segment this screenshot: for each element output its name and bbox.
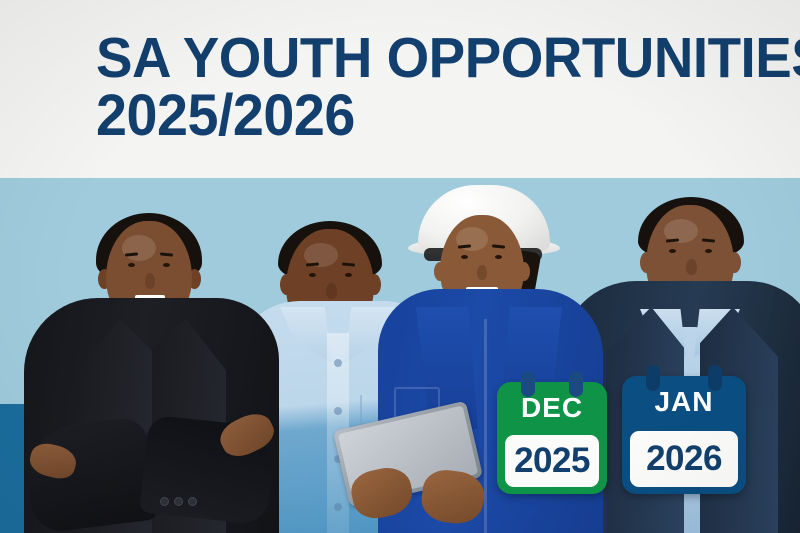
person-2-eye-right — [345, 273, 352, 277]
person-2-shirt-button-4 — [334, 503, 342, 511]
person-1-button-1 — [160, 497, 169, 506]
person-4-eye-right — [705, 249, 712, 253]
person-3-coverall-seam — [484, 319, 487, 533]
calendar-badge-january: JAN 2026 — [622, 376, 746, 494]
person-4-nose — [686, 259, 697, 275]
person-2-shirt-button-2 — [334, 407, 342, 415]
person-3-nose — [477, 265, 487, 280]
person-2-brow-right — [342, 262, 355, 266]
calendar-jan-month: JAN — [622, 386, 746, 418]
person-2-eye-left — [309, 273, 316, 277]
person-4-eye-left — [669, 249, 676, 253]
headline-line-2: 2025/2026 — [96, 89, 800, 143]
calendar-dec-month: DEC — [497, 392, 607, 424]
person-1-eye-left — [128, 263, 135, 267]
person-3-brow-right — [492, 244, 505, 248]
calendar-jan-year: 2026 — [646, 439, 722, 479]
person-2-nose — [326, 283, 337, 299]
person-1-blazer-buttons — [160, 497, 204, 509]
poster-canvas: SA YOUTH OPPORTUNITIES 2025/2026 — [0, 0, 800, 533]
person-1-nose — [145, 273, 155, 289]
person-1-button-2 — [174, 497, 183, 506]
person-1-face-highlight — [122, 235, 156, 261]
calendar-jan-year-panel: 2026 — [630, 431, 738, 487]
person-2-shirt-button-1 — [334, 359, 342, 367]
person-4-brow-right — [702, 238, 715, 242]
person-1-brow-right — [160, 252, 173, 256]
person-3-eye-left — [461, 255, 468, 259]
calendar-dec-year: 2025 — [514, 441, 590, 481]
person-1-button-3 — [188, 497, 197, 506]
headline-line-1: SA YOUTH OPPORTUNITIES — [96, 32, 800, 85]
person-1-woman-black-blazer — [24, 165, 279, 533]
poster-headline: SA YOUTH OPPORTUNITIES 2025/2026 — [96, 32, 800, 143]
person-3-eye-right — [495, 255, 502, 259]
calendar-dec-year-panel: 2025 — [505, 435, 599, 487]
person-1-eye-right — [163, 263, 170, 267]
calendar-badge-december: DEC 2025 — [497, 382, 607, 494]
